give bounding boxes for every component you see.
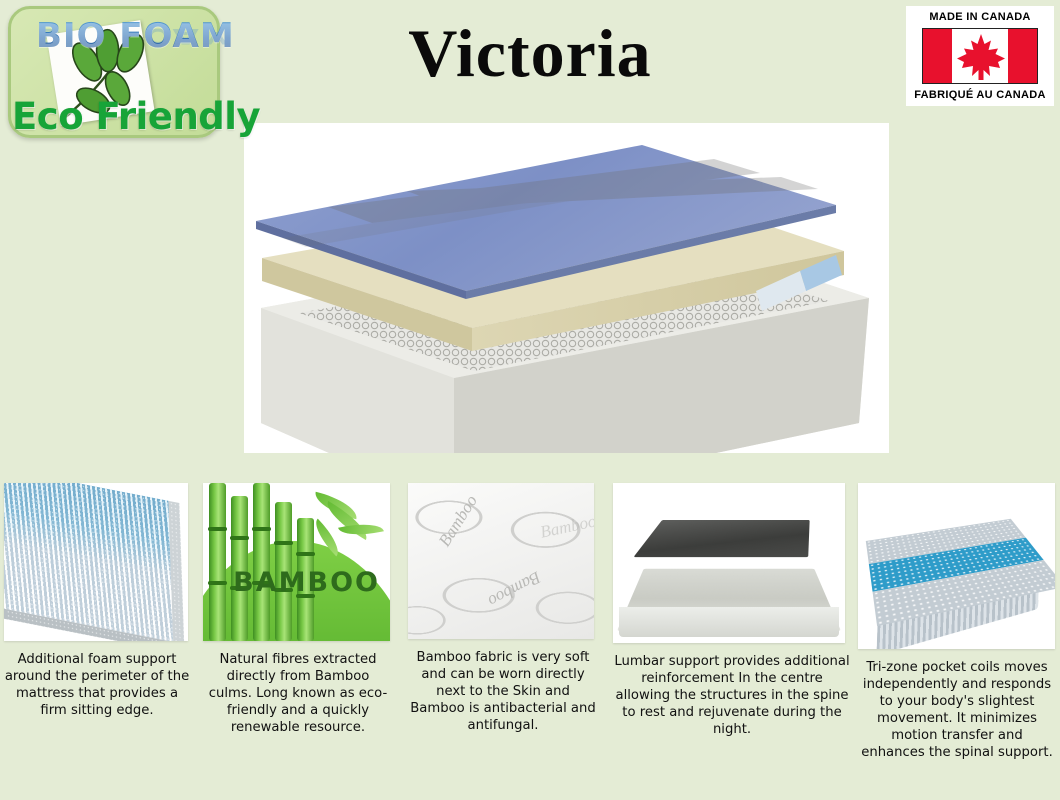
- made-in-canada-label: MADE IN CANADA: [929, 11, 1030, 23]
- feature-card-lumbar-support: Lumbar support provides additional reinf…: [613, 483, 851, 738]
- bio-foam-text: BIO FOAM: [36, 16, 235, 56]
- feature-card-bamboo-fabric: Bamboo Bamboo Bamboo Bamboo fabric is ve…: [408, 483, 598, 734]
- made-in-canada-badge: MADE IN CANADA FABRIQUÉ AU CANADA: [906, 6, 1054, 106]
- mattress-cutaway-illustration: [244, 123, 889, 453]
- feature-caption: Natural fibres extracted directly from B…: [203, 651, 393, 736]
- feature-caption: Lumbar support provides additional reinf…: [613, 653, 851, 738]
- bamboo-plant-graphic: BAMBOO: [203, 483, 390, 641]
- feature-card-edge-support: Additional foam support around the perim…: [4, 483, 192, 719]
- tri-zone-pocket-coil-photo: [858, 483, 1055, 649]
- edge-support-coil-photo: [4, 483, 188, 641]
- feature-caption: Additional foam support around the perim…: [4, 651, 190, 719]
- feature-row: Additional foam support around the perim…: [0, 483, 1060, 800]
- feature-caption: Bamboo fabric is very soft and can be wo…: [408, 649, 598, 734]
- feature-card-tri-zone-coils: Tri-zone pocket coils moves independentl…: [858, 483, 1056, 761]
- main-product-image: [244, 123, 889, 453]
- bamboo-quilted-fabric-photo: Bamboo Bamboo Bamboo: [408, 483, 594, 639]
- fabrique-au-canada-label: FABRIQUÉ AU CANADA: [914, 89, 1046, 101]
- eco-friendly-text: Eco Friendly: [12, 95, 260, 138]
- lumbar-support-pad-photo: [613, 483, 845, 643]
- bamboo-label: BAMBOO: [233, 567, 380, 598]
- canada-flag-icon: [922, 28, 1038, 84]
- feature-card-bamboo-fibre: BAMBOO Natural fibres extracted directly…: [203, 483, 393, 736]
- feature-caption: Tri-zone pocket coils moves independentl…: [858, 659, 1056, 761]
